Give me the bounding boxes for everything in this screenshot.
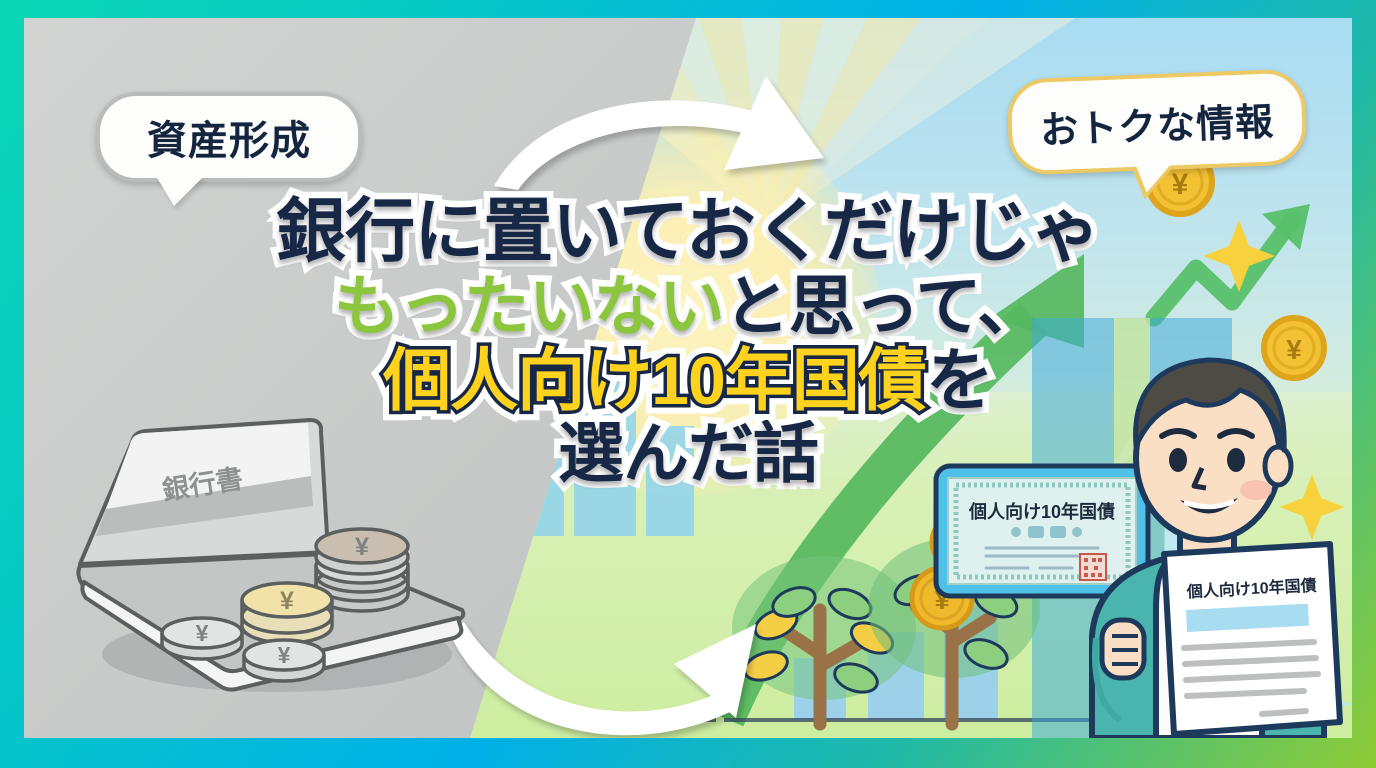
thumbnail-canvas: ¥ ¥ ¥ ¥ bbox=[0, 0, 1376, 768]
svg-text:¥: ¥ bbox=[355, 533, 369, 561]
svg-text:¥: ¥ bbox=[278, 642, 291, 668]
svg-text:¥: ¥ bbox=[280, 587, 294, 615]
badge-asset-formation-label: 資産形成 bbox=[147, 108, 311, 166]
inner-canvas: ¥ ¥ ¥ ¥ bbox=[24, 18, 1352, 738]
badge-useful-info[interactable]: おトクな情報 bbox=[1006, 68, 1307, 175]
badge-useful-info-label: おトクな情報 bbox=[1039, 90, 1275, 154]
eye bbox=[1169, 448, 1187, 472]
badge-asset-formation[interactable]: 資産形成 bbox=[96, 92, 362, 182]
held-document: 個人向け10年国債 bbox=[1154, 538, 1344, 738]
bankbook-coins-illustration: 銀行書 ¥ bbox=[72, 414, 472, 704]
svg-text:¥: ¥ bbox=[196, 620, 209, 646]
arrow-bottom-icon bbox=[448, 622, 730, 735]
eye bbox=[1227, 448, 1245, 472]
